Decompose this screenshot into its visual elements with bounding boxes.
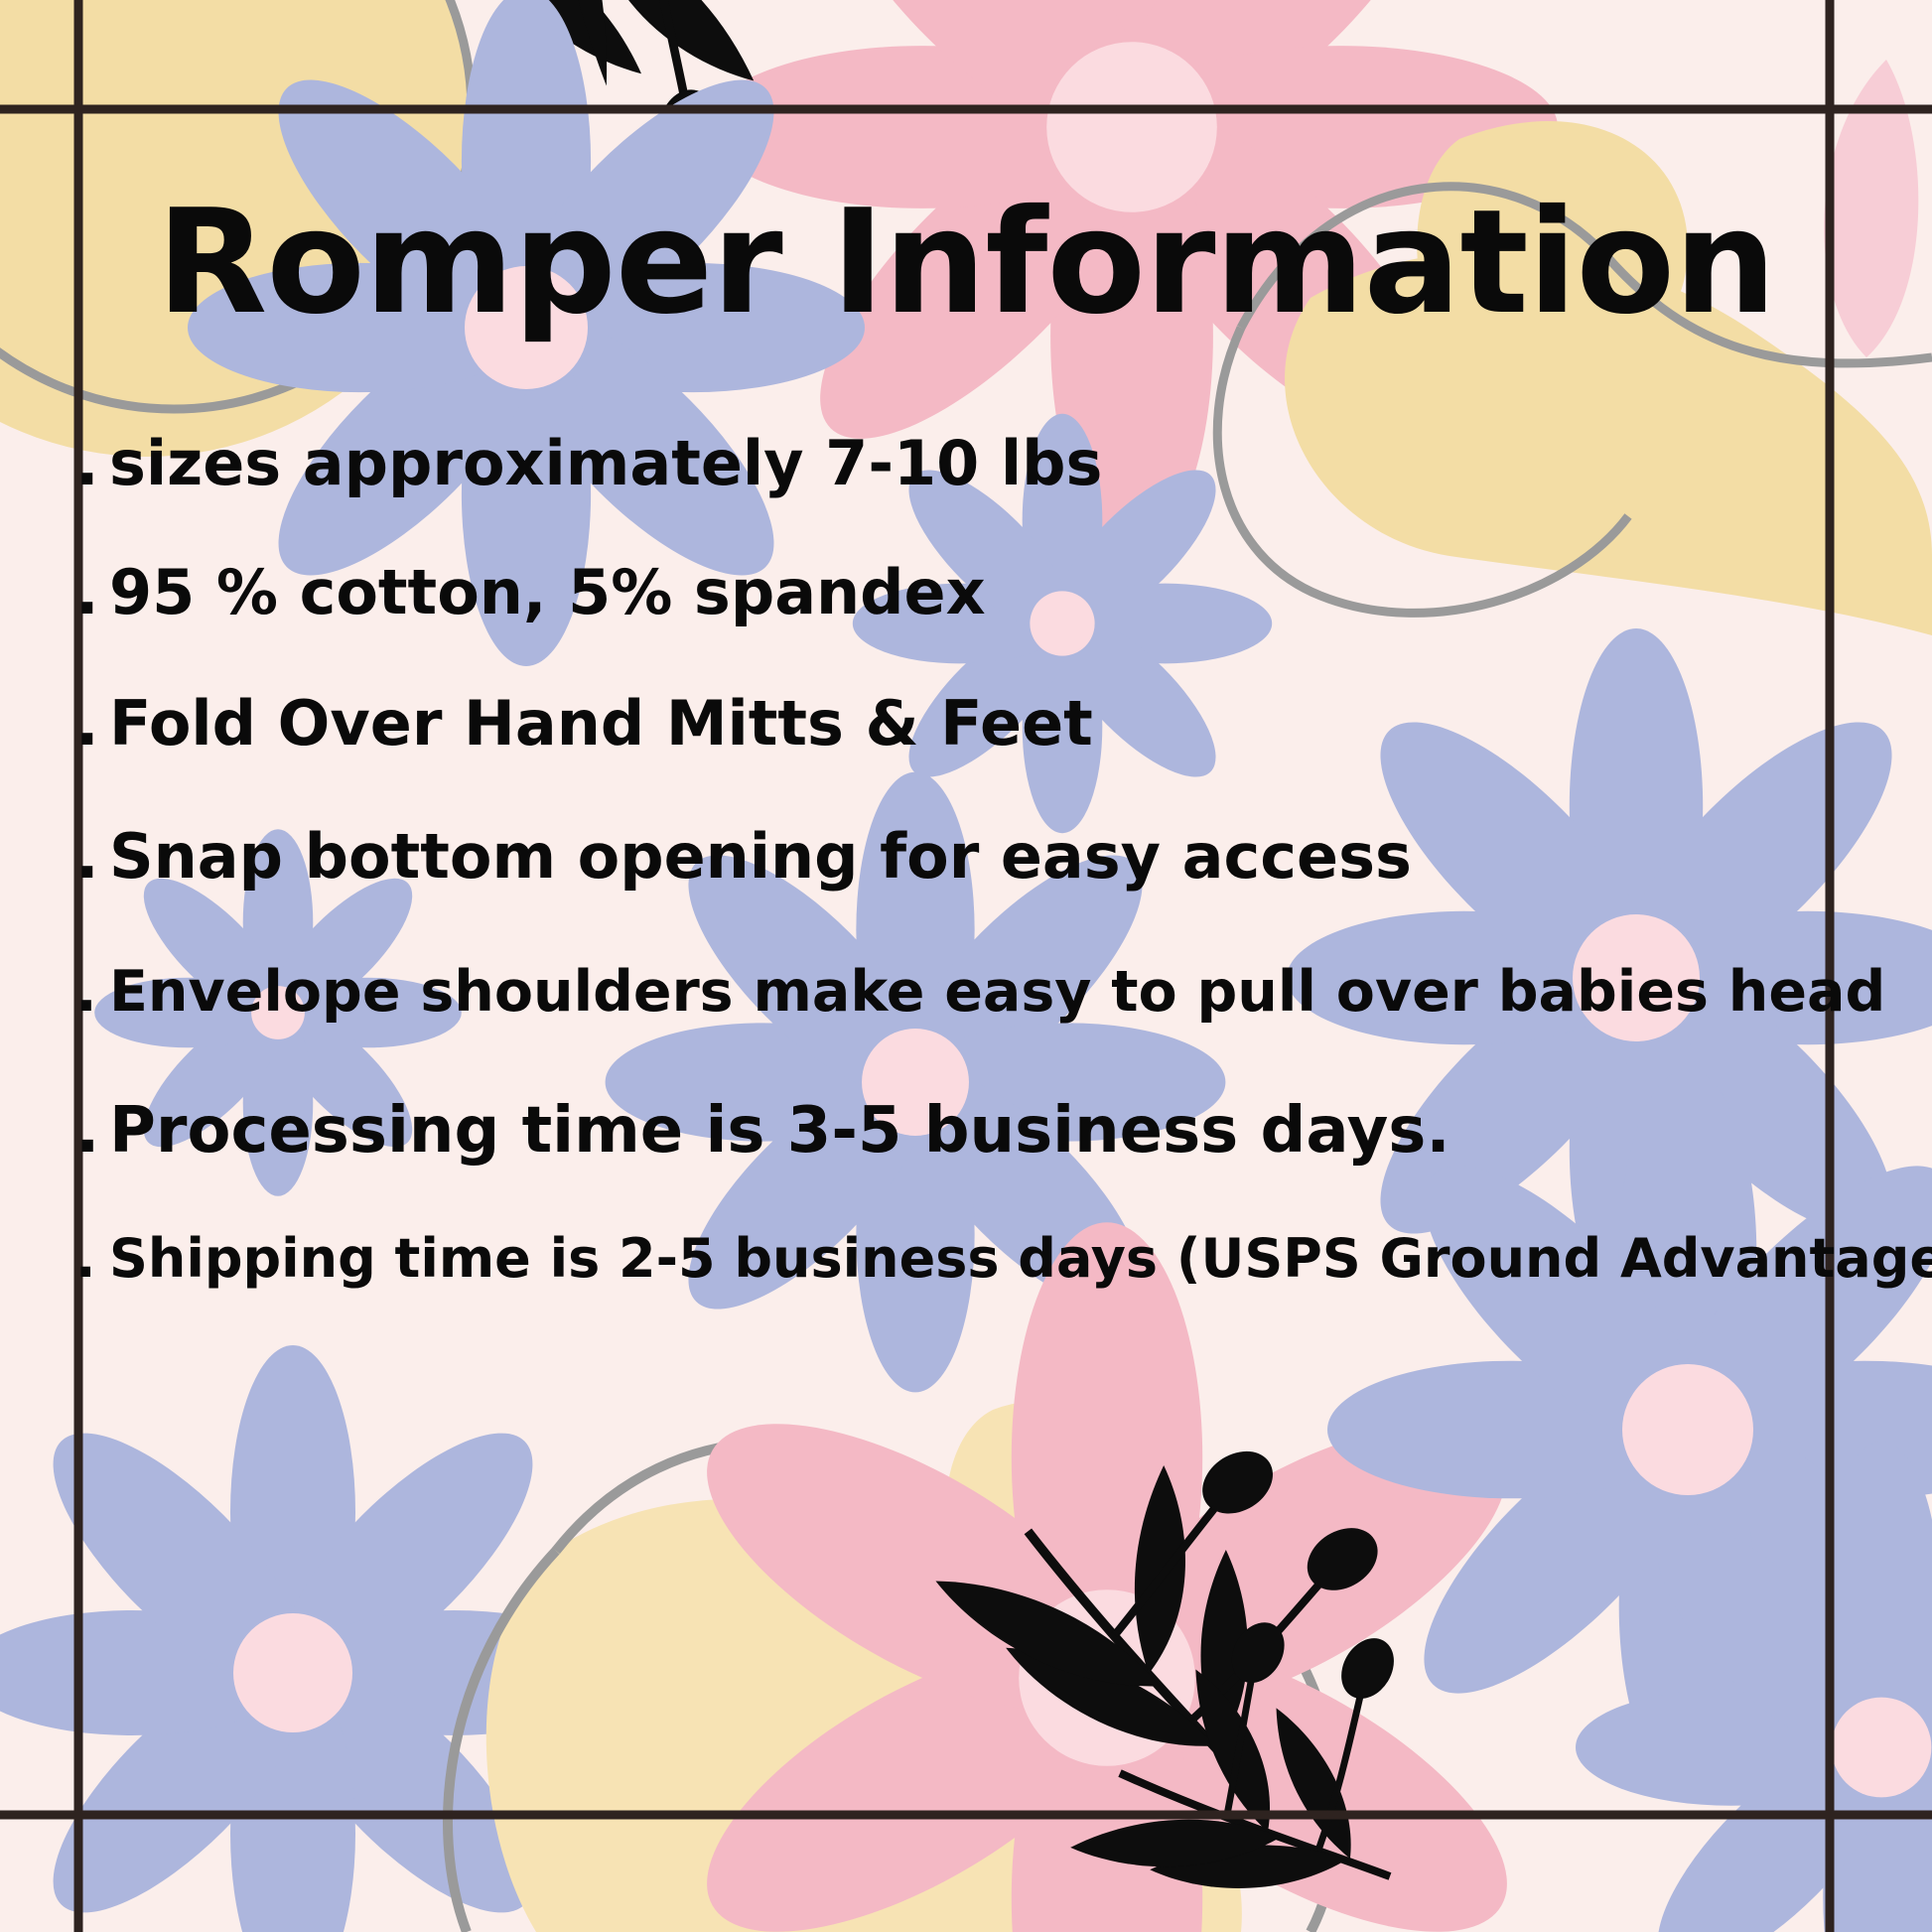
list-item: . Fold Over Hand Mitts & Feet (75, 687, 1902, 820)
list-item-text: Shipping time is 2-5 business days (USPS… (109, 1227, 1932, 1290)
list-item-text: 95 % cotton, 5% spandex (109, 556, 986, 628)
list-item-text: Envelope shoulders make easy to pull ove… (109, 959, 1885, 1025)
list-item: . Processing time is 3-5 business days. (75, 1094, 1902, 1227)
bullet-marker: . (75, 959, 109, 1025)
bullet-marker: . (75, 687, 109, 759)
feature-list: . sizes approximately 7-10 lbs . 95 % co… (75, 427, 1902, 1356)
bullet-marker: . (75, 556, 109, 628)
list-item: . sizes approximately 7-10 lbs (75, 427, 1902, 556)
poster-canvas: Romper Information . sizes approximately… (0, 0, 1932, 1932)
list-item: . Envelope shoulders make easy to pull o… (75, 959, 1902, 1094)
bullet-marker: . (75, 1227, 109, 1290)
list-item-text: Fold Over Hand Mitts & Feet (109, 687, 1093, 759)
poster-content: Romper Information . sizes approximately… (0, 0, 1932, 1932)
page-title: Romper Information (0, 191, 1932, 335)
list-item-text: Processing time is 3-5 business days. (109, 1094, 1450, 1168)
list-item-text: sizes approximately 7-10 lbs (109, 427, 1102, 499)
list-item: . 95 % cotton, 5% spandex (75, 556, 1902, 687)
bullet-marker: . (75, 820, 109, 893)
list-item: . Shipping time is 2-5 business days (US… (75, 1227, 1902, 1356)
bullet-marker: . (75, 1094, 109, 1168)
bullet-marker: . (75, 427, 109, 499)
list-item: . Snap bottom opening for easy access (75, 820, 1902, 959)
list-item-text: Snap bottom opening for easy access (109, 820, 1412, 893)
